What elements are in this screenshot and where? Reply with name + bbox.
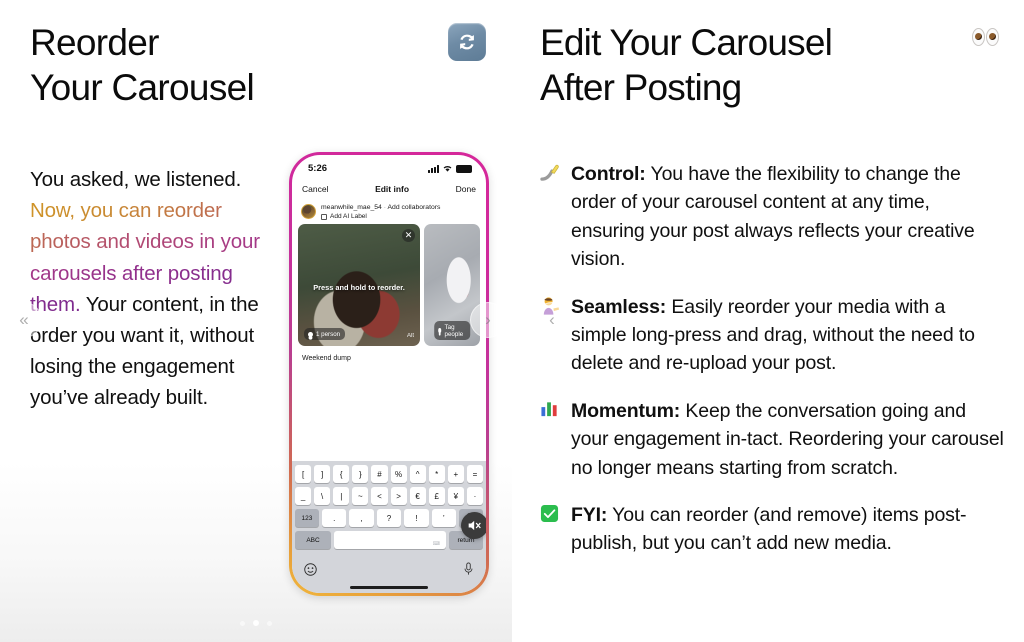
bullet-label: Seamless: xyxy=(571,296,666,318)
on-screen-keyboard[interactable]: [ ] { } # % ^ * + = _ \ | xyxy=(292,461,486,555)
key-pipe[interactable]: | xyxy=(333,487,349,505)
add-ai-label-link[interactable]: Add AI Label xyxy=(330,213,367,220)
key-middot[interactable]: · xyxy=(467,487,483,505)
keyboard-row-4: ABC ⌨ return xyxy=(295,531,483,549)
battery-full-icon xyxy=(456,165,472,173)
page-title-left: Reorder Your Carousel xyxy=(30,20,254,110)
page-title-right: Edit Your Carousel After Posting xyxy=(540,20,960,110)
key-asterisk[interactable]: * xyxy=(429,465,445,483)
key-alpha-mode[interactable]: ABC xyxy=(295,531,331,549)
bullet-body: Seamless: Easily reorder your media with… xyxy=(571,293,1005,378)
key-percent[interactable]: % xyxy=(391,465,407,483)
left-body-paragraph: You asked, we listened. Now, you can reo… xyxy=(30,164,270,414)
keyboard-row-2: _ \ | ~ < > € £ ¥ · xyxy=(295,487,483,505)
key-comma[interactable]: , xyxy=(349,509,373,527)
bullet-body: Momentum: Keep the conversation going an… xyxy=(571,397,1005,482)
key-yen[interactable]: ¥ xyxy=(448,487,464,505)
carousel-item-1[interactable]: ✕ Press and hold to reorder. 1 person Al… xyxy=(298,224,420,346)
green-check-box-icon xyxy=(540,501,562,521)
sync-arrows-icon xyxy=(448,23,486,61)
slide-pair-container: Reorder Your Carousel You asked, we list… xyxy=(0,0,1024,642)
phone-screen: 5:26 Cancel Edit info xyxy=(292,155,486,593)
left-slide: Reorder Your Carousel You asked, we list… xyxy=(0,0,512,642)
list-item: Control: You have the flexibility to cha… xyxy=(540,160,1005,274)
keyboard-switch-icon[interactable]: ⌨ xyxy=(433,541,440,547)
right-slide: Edit Your Carousel After Posting Control… xyxy=(512,0,1024,642)
keyboard-row-1: [ ] { } # % ^ * + = xyxy=(295,465,483,483)
key-caret[interactable]: ^ xyxy=(410,465,426,483)
avatar[interactable] xyxy=(301,204,316,219)
bullet-label: Momentum: xyxy=(571,400,680,422)
emoji-smiley-icon[interactable] xyxy=(304,563,317,576)
key-plus[interactable]: + xyxy=(448,465,464,483)
person-icon xyxy=(308,332,313,337)
phone-mockup: 5:26 Cancel Edit info xyxy=(289,152,489,596)
key-brace-close[interactable]: } xyxy=(352,465,368,483)
key-greater-than[interactable]: > xyxy=(391,487,407,505)
cancel-button[interactable]: Cancel xyxy=(302,184,328,194)
key-pound[interactable]: £ xyxy=(429,487,445,505)
cellular-bars-icon xyxy=(428,165,439,173)
key-bracket-open[interactable]: [ xyxy=(295,465,311,483)
eyes-icon xyxy=(972,28,999,46)
key-bracket-close[interactable]: ] xyxy=(314,465,330,483)
carousel-prev-button[interactable]: « xyxy=(6,302,42,338)
person-tag-chip[interactable]: 1 person xyxy=(304,328,345,340)
ai-label-checkbox[interactable] xyxy=(321,214,327,220)
bar-chart-icon xyxy=(540,397,562,417)
joystick-icon xyxy=(540,160,562,180)
tag-people-label: Tag people xyxy=(445,324,465,338)
key-euro[interactable]: € xyxy=(410,487,426,505)
page-dot[interactable] xyxy=(267,621,272,626)
alt-text-button[interactable]: Alt xyxy=(407,333,414,339)
person-icon xyxy=(438,328,441,333)
key-equals[interactable]: = xyxy=(467,465,483,483)
key-space[interactable]: ⌨ xyxy=(334,531,446,549)
feature-bullet-list: Control: You have the flexibility to cha… xyxy=(540,160,1005,577)
carousel-media-row: ✕ Press and hold to reorder. 1 person Al… xyxy=(292,224,486,346)
key-brace-open[interactable]: { xyxy=(333,465,349,483)
phone-nav-bar: Cancel Edit info Done xyxy=(292,179,486,199)
key-numeric-mode[interactable]: 123 xyxy=(295,509,319,527)
carousel-prev-button-right[interactable]: ‹ xyxy=(534,302,570,338)
caption-spacer xyxy=(292,362,486,461)
speaker-muted-icon xyxy=(467,518,482,533)
bullet-label: Control: xyxy=(571,163,646,185)
body-lead: You asked, we listened. xyxy=(30,168,241,191)
key-hash[interactable]: # xyxy=(371,465,387,483)
mute-toggle[interactable] xyxy=(461,512,486,539)
page-dot[interactable] xyxy=(240,621,245,626)
carousel-next-button[interactable]: › xyxy=(470,302,506,338)
list-item: Seamless: Easily reorder your media with… xyxy=(540,293,1005,378)
person-tag-label: 1 person xyxy=(316,331,340,338)
status-time: 5:26 xyxy=(308,163,327,174)
post-meta-row: meanwhile_mae_54 · Add collaborators Add… xyxy=(292,199,486,224)
username-label: meanwhile_mae_54 xyxy=(321,204,382,211)
key-backslash[interactable]: \ xyxy=(314,487,330,505)
bullet-body: FYI: You can reorder (and remove) items … xyxy=(571,501,1005,558)
carousel-page-dots[interactable] xyxy=(0,620,512,626)
bullet-body: Control: You have the flexibility to cha… xyxy=(571,160,1005,274)
close-icon[interactable]: ✕ xyxy=(402,229,415,242)
keyboard-bottom-bar xyxy=(292,555,486,581)
key-less-than[interactable]: < xyxy=(371,487,387,505)
meta-separator: · xyxy=(384,204,386,211)
key-period[interactable]: . xyxy=(322,509,346,527)
key-apostrophe[interactable]: ’ xyxy=(432,509,456,527)
phone-status-bar: 5:26 xyxy=(292,155,486,179)
key-tilde[interactable]: ~ xyxy=(352,487,368,505)
reorder-hint-text: Press and hold to reorder. xyxy=(298,283,420,292)
bullet-label: FYI: xyxy=(571,504,607,526)
key-exclamation[interactable]: ! xyxy=(404,509,428,527)
nav-title: Edit info xyxy=(375,184,409,194)
key-underscore[interactable]: _ xyxy=(295,487,311,505)
page-dot-active[interactable] xyxy=(253,620,259,626)
keyboard-row-3: 123 . , ? ! ’ xyxy=(295,509,483,527)
list-item: Momentum: Keep the conversation going an… xyxy=(540,397,1005,482)
wifi-icon xyxy=(442,164,453,173)
caption-text[interactable]: Weekend dump xyxy=(292,346,486,362)
list-item: FYI: You can reorder (and remove) items … xyxy=(540,501,1005,558)
done-button[interactable]: Done xyxy=(456,184,476,194)
bullet-copy: You can reorder (and remove) items post-… xyxy=(571,504,966,554)
home-indicator xyxy=(292,581,486,593)
key-question[interactable]: ? xyxy=(377,509,401,527)
tag-people-chip[interactable]: Tag people xyxy=(434,321,470,340)
microphone-icon[interactable] xyxy=(463,562,474,576)
add-collaborators-link[interactable]: Add collaborators xyxy=(388,204,441,211)
